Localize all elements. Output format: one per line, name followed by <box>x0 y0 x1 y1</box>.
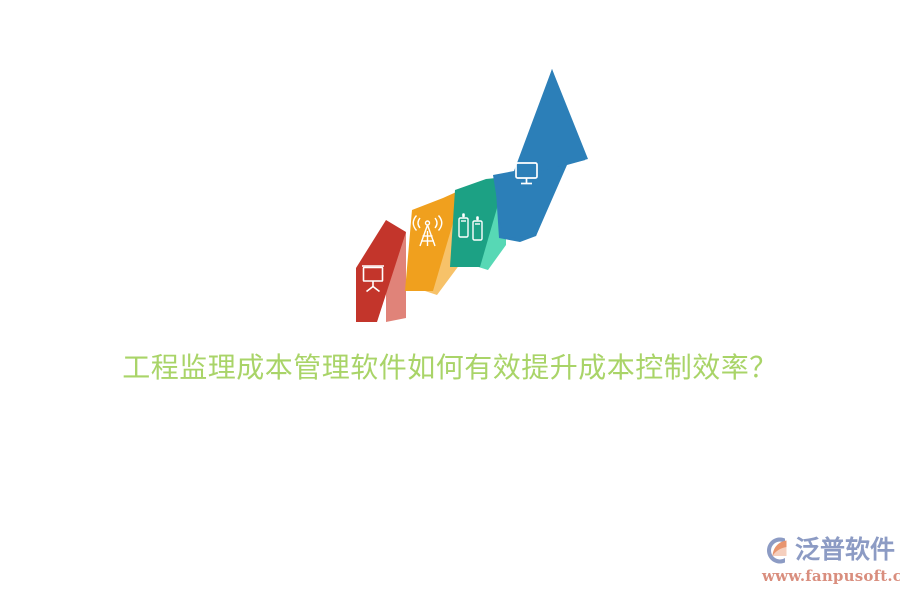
rising-bar-arrow-chart <box>340 55 600 340</box>
page-canvas: 工程监理成本管理软件如何有效提升成本控制效率？ 泛普软件 www.fanpuso… <box>0 0 900 600</box>
watermark-logo: 泛普软件 www.fanpusoft.com <box>762 534 894 588</box>
fanpu-circle-logo-icon <box>762 535 793 566</box>
chart-arrow-blue <box>493 69 588 242</box>
chart-bar-1 <box>356 220 406 322</box>
brand-wordmark: 泛普软件 <box>795 535 895 565</box>
page-title: 工程监理成本管理软件如何有效提升成本控制效率？ <box>0 348 900 388</box>
brand-url: www.fanpusoft.com <box>762 567 894 585</box>
chart-arrow-blue-head <box>518 69 588 177</box>
logo-row: 泛普软件 <box>762 534 894 566</box>
